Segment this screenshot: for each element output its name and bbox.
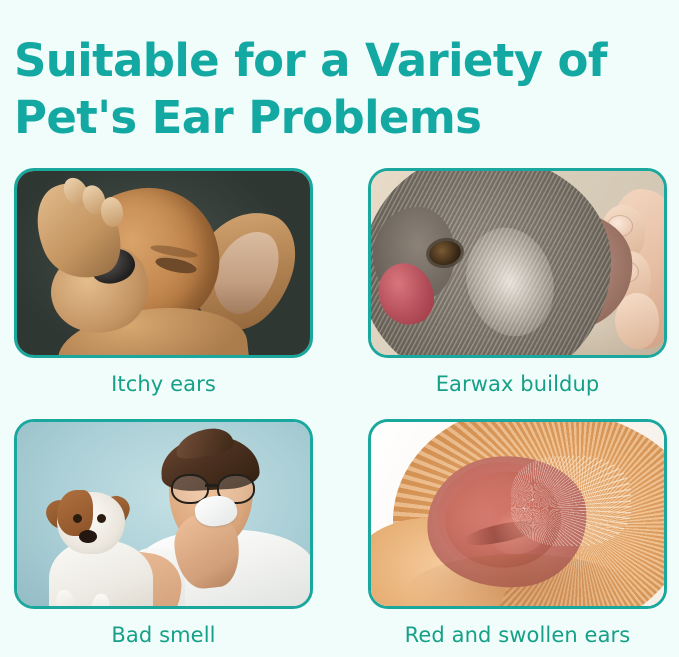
card-image-frame (14, 419, 313, 609)
card-caption: Itchy ears (14, 371, 313, 397)
glasses-bridge (205, 484, 219, 487)
dog-eye-shape (73, 514, 82, 523)
card-image-frame (14, 168, 313, 358)
card-image-frame (368, 419, 667, 609)
problem-card-earwax-buildup[interactable]: Earwax buildup (368, 168, 667, 397)
promo-page: Suitable for a Variety of Pet's Ear Prob… (0, 0, 679, 657)
card-caption: Earwax buildup (368, 371, 667, 397)
problem-card-red-swollen-ears[interactable]: Red and swollen ears (368, 419, 667, 648)
card-caption: Red and swollen ears (368, 622, 667, 648)
red-swollen-ear-closeup-image (371, 422, 664, 606)
fur-whiskers-texture (511, 456, 631, 546)
dog-scratching-ear-image (17, 171, 310, 355)
man-holding-nose-with-dog-image (17, 422, 310, 606)
dog-earwax-closeup-image (371, 171, 664, 355)
card-caption: Bad smell (14, 622, 313, 648)
problem-card-itchy-ears[interactable]: Itchy ears (14, 168, 313, 397)
problem-card-bad-smell[interactable]: Bad smell (14, 419, 313, 648)
page-title: Suitable for a Variety of Pet's Ear Prob… (14, 32, 674, 146)
dog-nose-shape (79, 530, 97, 543)
card-image-frame (368, 168, 667, 358)
dog-eye-shape (97, 514, 106, 523)
